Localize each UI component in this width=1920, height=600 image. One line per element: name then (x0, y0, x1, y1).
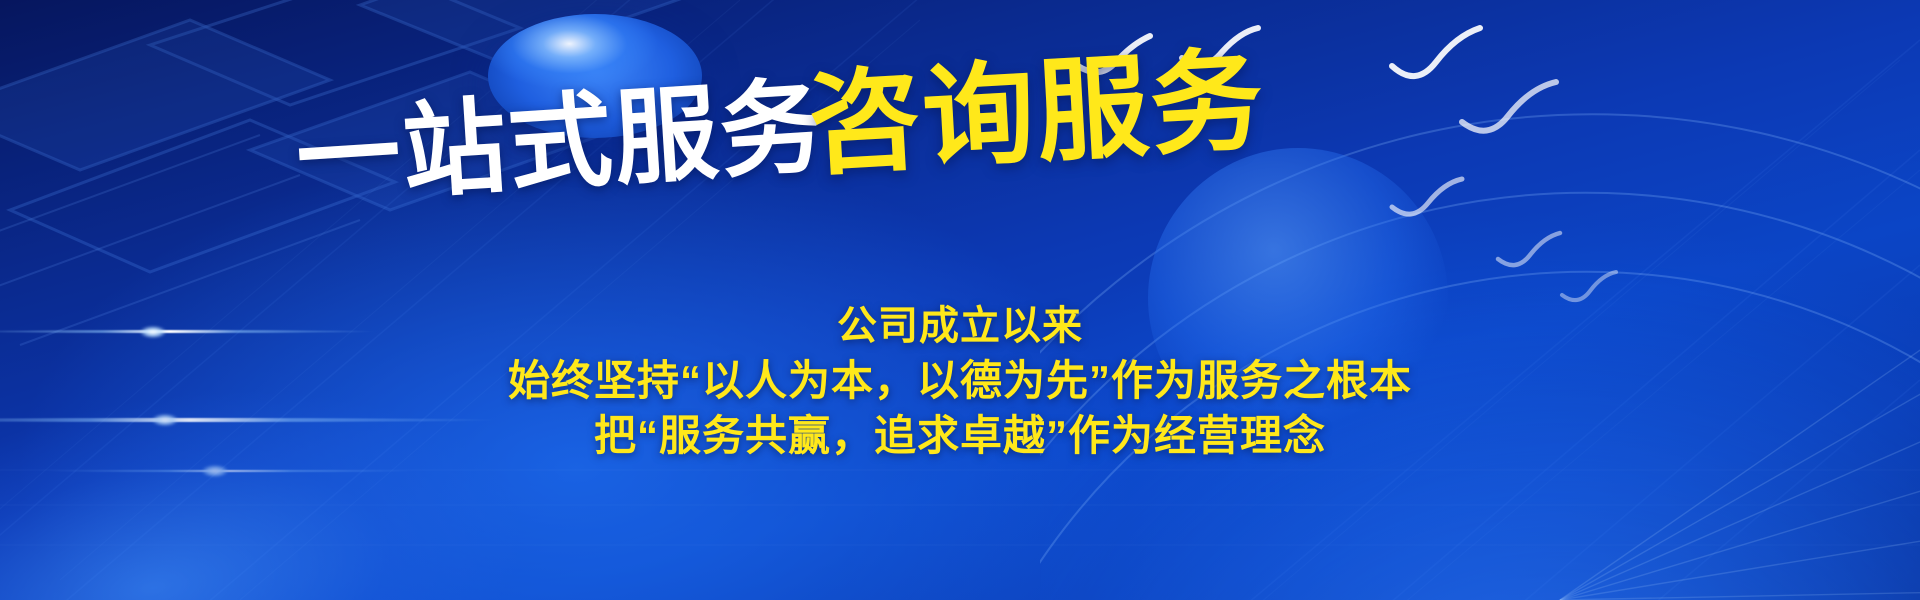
light-streak-decor (40, 470, 420, 472)
hero-banner: 一站式服务 咨询服务 公司成立以来 始终坚持“以人为本，以德为先”作为服务之根本… (0, 0, 1920, 600)
subtitle-line: 始终坚持“以人为本，以德为先”作为服务之根本 (0, 353, 1920, 408)
subtitle-line: 公司成立以来 (0, 300, 1920, 353)
subtitle-block: 公司成立以来 始终坚持“以人为本，以德为先”作为服务之根本 把“服务共赢，追求卓… (0, 300, 1920, 464)
headline-accent: 咨询服务 (806, 45, 1268, 182)
headline-group: 一站式服务 咨询服务 (0, 0, 1920, 260)
headline-primary: 一站式服务 (293, 75, 829, 212)
subtitle-line: 把“服务共赢，追求卓越”作为经营理念 (0, 408, 1920, 463)
